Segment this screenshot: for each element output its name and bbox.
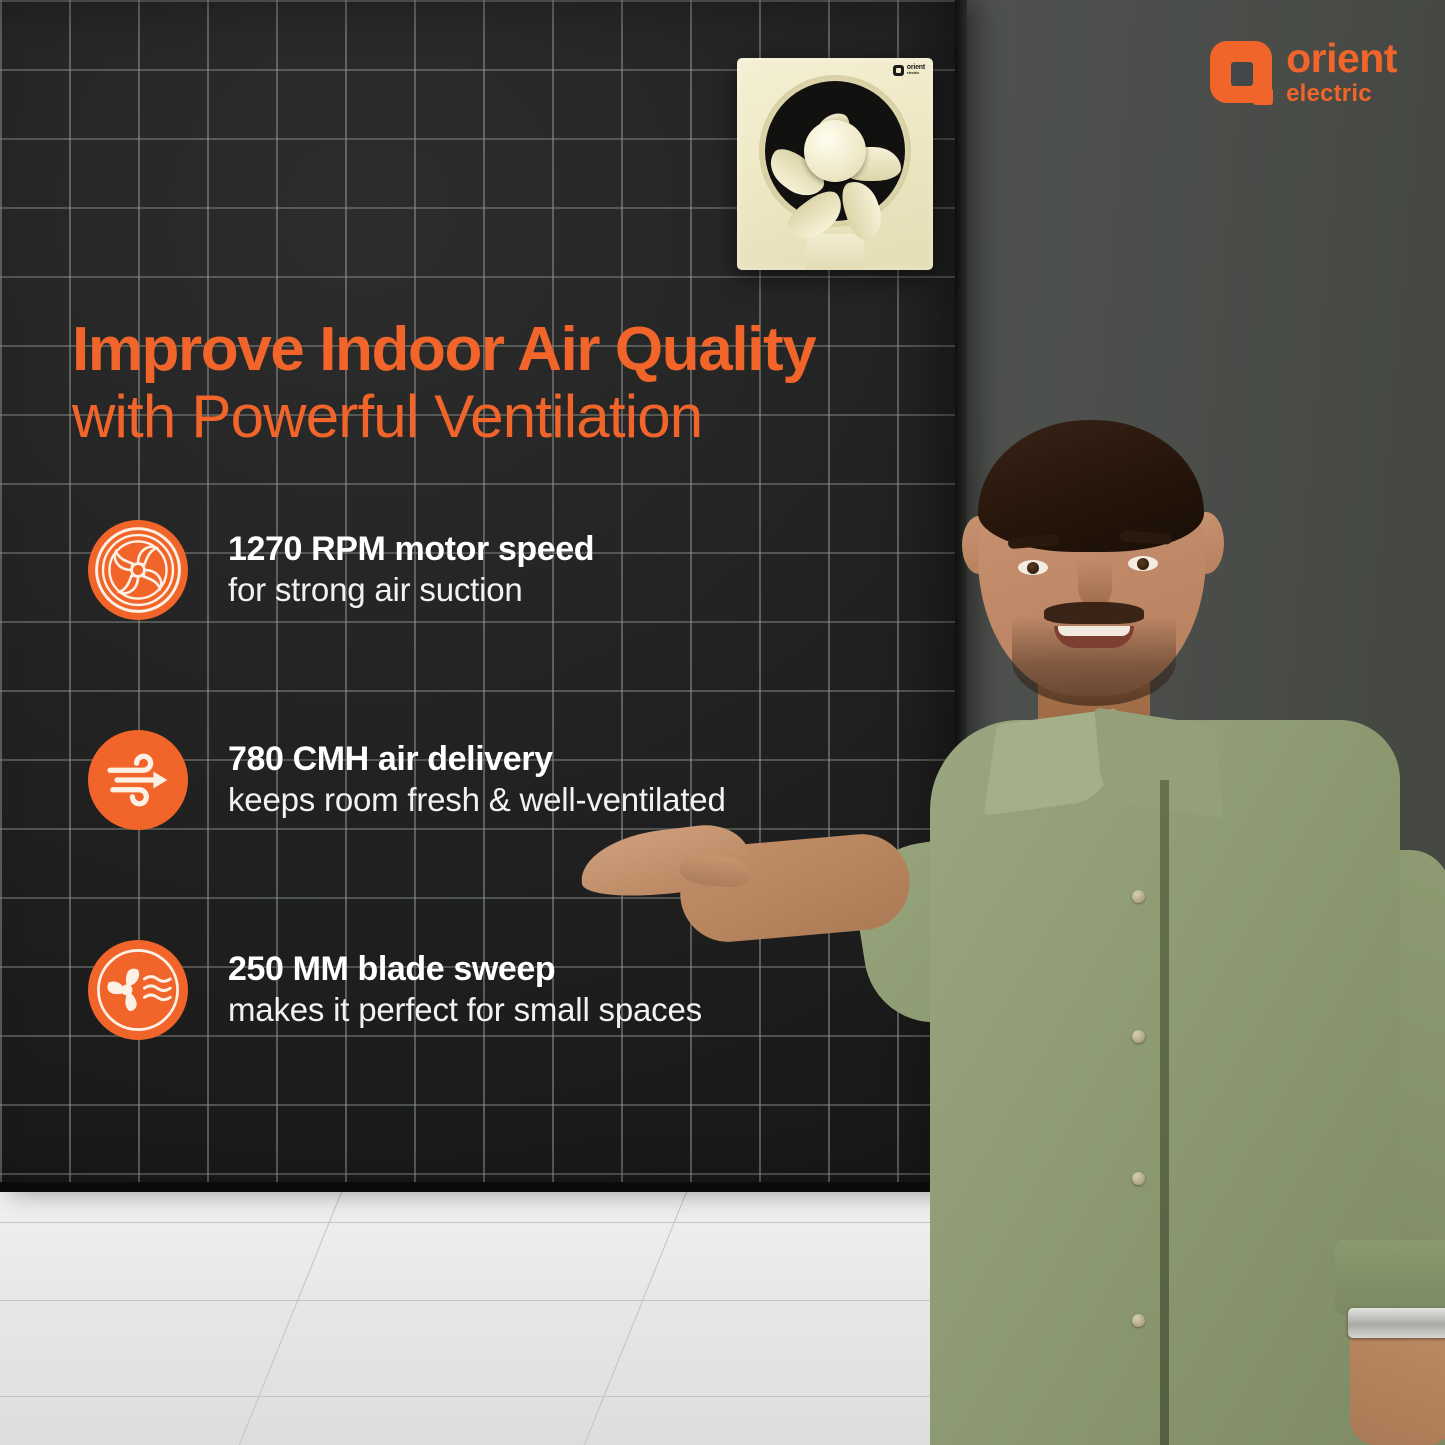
product-logo-mark — [893, 65, 904, 76]
shirt-button — [1132, 1030, 1145, 1043]
model-right-cuff — [1335, 1240, 1445, 1314]
model-mustache — [1044, 602, 1144, 624]
feature-title: 780 CMH air delivery — [228, 740, 726, 778]
brand-subname: electric — [1286, 82, 1397, 106]
feature-subtitle: for strong air suction — [228, 570, 594, 610]
exhaust-fan-product: orient electric — [737, 58, 933, 270]
fan-propeller-breeze-icon — [88, 940, 188, 1040]
model-teeth — [1058, 626, 1130, 636]
headline: Improve Indoor Air Quality with Powerful… — [72, 318, 952, 450]
shirt-button — [1132, 1314, 1145, 1327]
feature-item: 250 MM blade sweep makes it perfect for … — [88, 925, 948, 1055]
feature-list: 1270 RPM motor speed for strong air suct… — [88, 505, 948, 1055]
fan-hub — [804, 120, 866, 182]
model-eye-left — [1018, 560, 1048, 575]
feature-title: 1270 RPM motor speed — [228, 530, 594, 568]
model-eye-right — [1128, 556, 1158, 571]
product-logo-sub: electric — [907, 72, 925, 75]
ad-creative: orient electric — [0, 0, 1445, 1445]
turbine-impeller-icon — [88, 520, 188, 620]
shirt-button — [1132, 1172, 1145, 1185]
product-brand-logo: orient electric — [893, 65, 925, 76]
feature-title: 250 MM blade sweep — [228, 950, 702, 988]
feature-subtitle: makes it perfect for small spaces — [228, 990, 702, 1030]
headline-line-1: Improve Indoor Air Quality — [72, 318, 952, 381]
wind-airflow-icon — [88, 730, 188, 830]
model-hair — [978, 420, 1204, 552]
wrist-watch — [1348, 1308, 1445, 1338]
fan-base — [806, 234, 864, 270]
feature-subtitle: keeps room fresh & well-ventilated — [228, 780, 726, 820]
brand-logo[interactable]: orient electric — [1210, 38, 1397, 106]
shirt-placket — [1160, 780, 1169, 1445]
feature-item: 1270 RPM motor speed for strong air suct… — [88, 505, 948, 635]
headline-line-2: with Powerful Ventilation — [72, 385, 952, 450]
shirt-button — [1132, 890, 1145, 903]
orient-q-mark-icon — [1210, 41, 1272, 103]
feature-item: 780 CMH air delivery keeps room fresh & … — [88, 715, 948, 845]
brand-name: orient — [1286, 38, 1397, 79]
